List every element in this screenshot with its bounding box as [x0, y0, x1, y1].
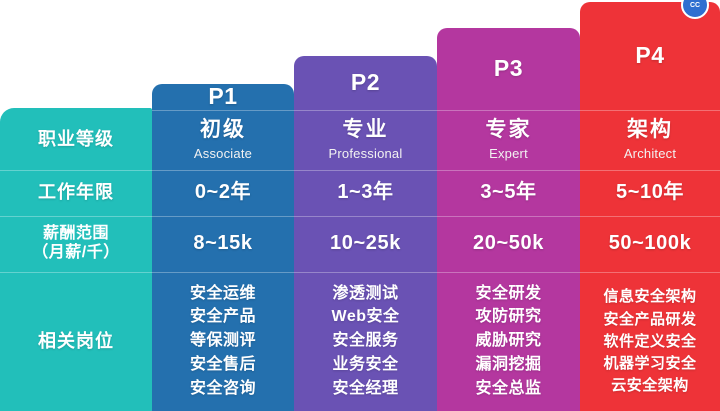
job-item: 安全产品 [190, 306, 256, 329]
cell-p3-experience-text: 3~5年 [480, 181, 536, 205]
cell-p1-level-cn: 初级 [200, 118, 246, 143]
job-item: 安全售后 [190, 354, 256, 377]
cell-p2-level-en: Professional [329, 146, 403, 161]
job-item: 业务安全 [332, 354, 398, 377]
row-label-experience: 工作年限 [0, 170, 152, 216]
cell-p1-experience-text: 0~2年 [195, 181, 251, 205]
profile-avatar-watermark-text: CC [690, 2, 700, 9]
infographic-canvas: 职业等级 工作年限 薪酬范围 （月薪/千） 相关岗位 P1 初级 Associa… [0, 0, 720, 411]
cell-p2-salary: 10~25k [294, 216, 437, 272]
cell-p1-jobs: 安全运维 安全产品 等保测评 安全售后 安全咨询 [152, 272, 294, 411]
cell-p3-level-cn: 专家 [486, 118, 532, 143]
cell-p3-experience: 3~5年 [437, 170, 580, 216]
column-p2-code: P2 [294, 56, 437, 110]
job-item: 等保测评 [190, 330, 256, 353]
cell-p2-level: 专业 Professional [294, 110, 437, 170]
column-p1-code-text: P1 [208, 83, 237, 110]
job-item: 安全服务 [332, 330, 398, 353]
cell-p1-salary: 8~15k [152, 216, 294, 272]
cell-p1-level: 初级 Associate [152, 110, 294, 170]
cell-p3-jobs: 安全研发 攻防研究 威胁研究 漏洞挖掘 安全总监 [437, 272, 580, 411]
job-item: 渗透测试 [332, 283, 398, 306]
cell-p1-experience: 0~2年 [152, 170, 294, 216]
cell-p3-salary-text: 20~50k [473, 232, 544, 256]
column-p4-code-text: P4 [635, 42, 664, 69]
cell-p4-level-cn: 架构 [627, 118, 673, 143]
job-item: 安全研发 [475, 283, 541, 306]
job-item: 威胁研究 [475, 330, 541, 353]
cell-p3-salary: 20~50k [437, 216, 580, 272]
column-p3-code-text: P3 [494, 55, 523, 82]
cell-p3-level-en: Expert [489, 146, 528, 161]
job-item: 信息安全架构 [603, 286, 696, 307]
cell-p1-level-en: Associate [194, 146, 252, 161]
row-label-salary-line1: 薪酬范围 [43, 225, 109, 244]
job-item: 安全运维 [190, 283, 256, 306]
cell-p2-salary-text: 10~25k [330, 232, 401, 256]
column-p1-code: P1 [152, 84, 294, 110]
cell-p2-level-cn: 专业 [343, 118, 389, 143]
row-label-salary: 薪酬范围 （月薪/千） [0, 216, 152, 272]
cell-p4-level-en: Architect [624, 146, 676, 161]
job-item: 云安全架构 [611, 375, 689, 396]
cell-p2-experience: 1~3年 [294, 170, 437, 216]
cell-p4-experience: 5~10年 [580, 170, 720, 216]
cell-p4-jobs: 信息安全架构 安全产品研发 软件定义安全 机器学习安全 云安全架构 [580, 272, 720, 411]
job-item: 安全咨询 [190, 378, 256, 401]
cell-p1-salary-text: 8~15k [193, 232, 252, 256]
job-item: 安全总监 [475, 378, 541, 401]
cell-p3-level: 专家 Expert [437, 110, 580, 170]
row-label-level-text: 职业等级 [38, 129, 114, 150]
job-item: 安全产品研发 [603, 309, 696, 330]
row-label-salary-line2: （月薪/千） [32, 244, 119, 263]
row-label-experience-text: 工作年限 [38, 182, 114, 203]
cell-p2-jobs: 渗透测试 Web安全 安全服务 业务安全 安全经理 [294, 272, 437, 411]
job-item: 机器学习安全 [603, 353, 696, 374]
job-item: 安全经理 [332, 378, 398, 401]
job-item: 软件定义安全 [603, 331, 696, 352]
column-p2-code-text: P2 [351, 69, 380, 96]
job-item: 攻防研究 [475, 306, 541, 329]
job-item: Web安全 [332, 306, 400, 329]
column-p3-code: P3 [437, 28, 580, 110]
row-label-level: 职业等级 [0, 110, 152, 170]
cell-p2-experience-text: 1~3年 [337, 181, 393, 205]
cell-p4-salary: 50~100k [580, 216, 720, 272]
row-label-jobs: 相关岗位 [0, 272, 152, 411]
cell-p4-level: 架构 Architect [580, 110, 720, 170]
job-item: 漏洞挖掘 [475, 354, 541, 377]
cell-p4-experience-text: 5~10年 [616, 181, 684, 205]
row-label-jobs-text: 相关岗位 [38, 331, 114, 352]
cell-p4-salary-text: 50~100k [609, 232, 692, 256]
